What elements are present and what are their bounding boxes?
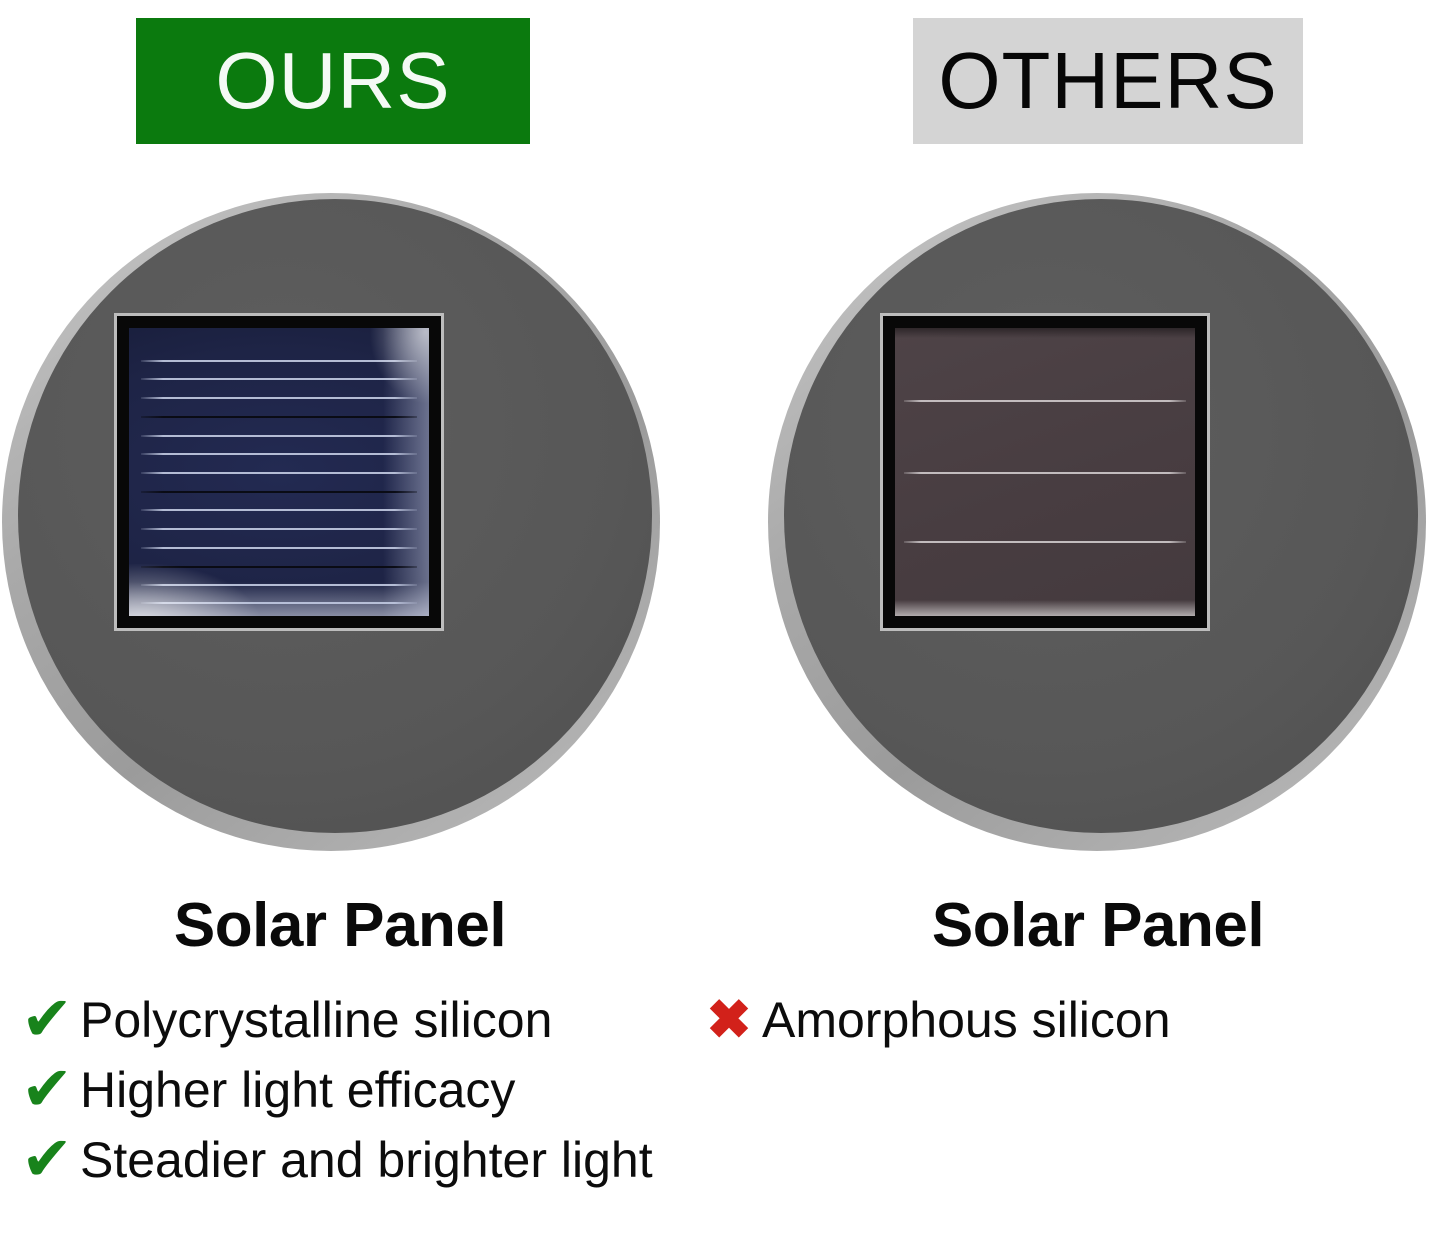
cell-edge-shadow-top-icon (895, 328, 1195, 338)
caption-solar-panel-others: Solar Panel (768, 890, 1428, 961)
solar-panel-bezel-ours (114, 313, 444, 631)
list-item: ✖ Amorphous silicon (700, 985, 1400, 1055)
banner-others: OTHERS (913, 18, 1303, 144)
list-item: ✔ Steadier and brighter light (18, 1125, 708, 1195)
busbar-line (141, 472, 417, 474)
busbar-line (141, 435, 417, 437)
list-item: ✔ Higher light efficacy (18, 1055, 708, 1125)
busbar-line-dark (141, 416, 417, 418)
cell-corner-glow-bottomleft-icon (129, 564, 259, 616)
busbar-line (904, 472, 1186, 474)
cell-corner-glow-topright-icon (369, 328, 429, 404)
feature-list-others: ✖ Amorphous silicon (700, 985, 1400, 1055)
banner-ours: OURS (136, 18, 530, 144)
busbar-line (141, 528, 417, 530)
solar-panel-frame-ours (117, 316, 441, 628)
feature-label: Steadier and brighter light (76, 1131, 653, 1189)
feature-label: Amorphous silicon (758, 991, 1171, 1049)
busbar-line-dark (141, 491, 417, 493)
feature-list-ours: ✔ Polycrystalline silicon ✔ Higher light… (18, 985, 708, 1195)
busbar-line (141, 509, 417, 511)
solar-panel-bezel-others (880, 313, 1210, 631)
cross-icon: ✖ (700, 991, 758, 1049)
feature-label: Higher light efficacy (76, 1061, 515, 1119)
busbar-line (904, 400, 1186, 402)
caption-solar-panel-ours: Solar Panel (10, 890, 670, 961)
product-disc-ours (2, 193, 662, 855)
check-icon: ✔ (18, 1061, 76, 1119)
product-disc-others (768, 193, 1428, 855)
busbar-line (141, 547, 417, 549)
feature-label: Polycrystalline silicon (76, 991, 552, 1049)
busbar-line (904, 541, 1186, 543)
busbar-line (141, 453, 417, 455)
check-icon: ✔ (18, 1131, 76, 1189)
solar-cell-amorphous (895, 328, 1195, 616)
check-icon: ✔ (18, 991, 76, 1049)
solar-panel-frame-others (883, 316, 1207, 628)
list-item: ✔ Polycrystalline silicon (18, 985, 708, 1055)
cell-edge-glow-bottom-icon (895, 600, 1195, 616)
solar-cell-polycrystalline (129, 328, 429, 616)
